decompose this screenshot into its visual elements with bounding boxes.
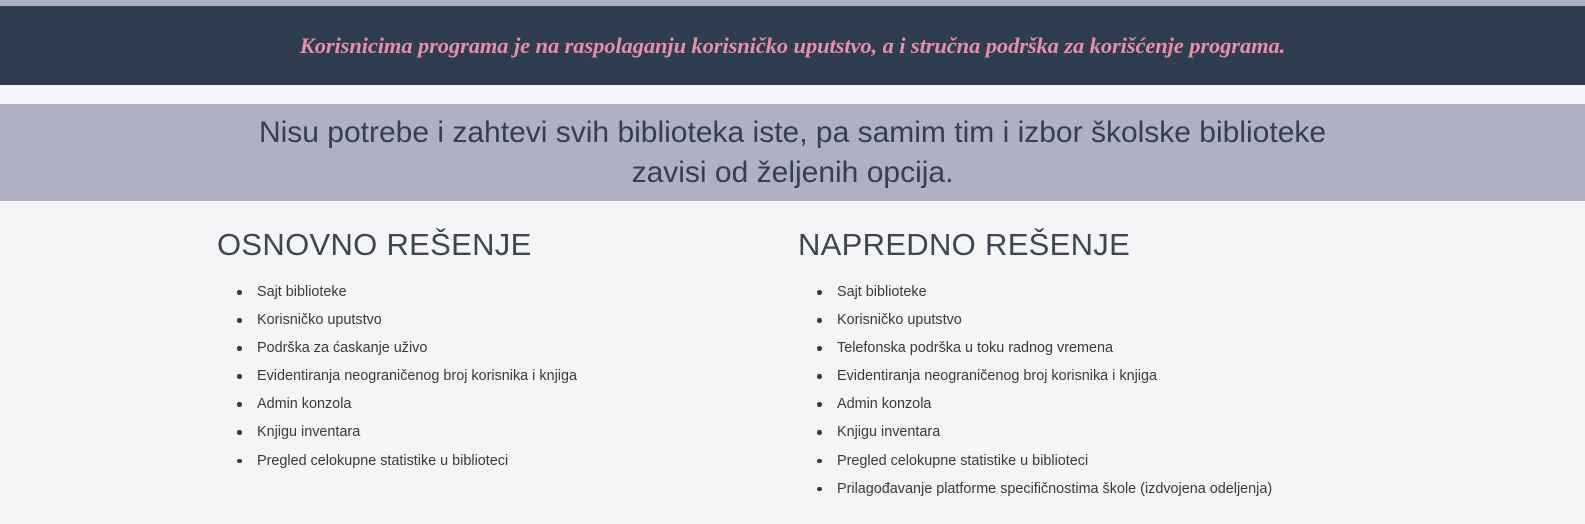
banner-spacer [0, 85, 1585, 104]
list-item: Evidentiranja neograničenog broj korisni… [237, 369, 797, 383]
bullet-icon [817, 430, 822, 435]
column-advanced-solution: NAPREDNO REŠENJE Sajt biblioteke Korisni… [797, 227, 1437, 510]
column-heading-advanced: NAPREDNO REŠENJE [798, 227, 1437, 263]
list-item: Pregled celokupne statistike u bibliotec… [237, 454, 797, 468]
list-item: Knjigu inventara [817, 425, 1437, 439]
list-item: Telefonska podrška u toku radnog vremena [817, 341, 1437, 355]
list-item: Evidentiranja neograničenog broj korisni… [817, 369, 1437, 383]
list-item-label: Knjigu inventara [837, 425, 940, 439]
list-item: Prilagođavanje platforme specifičnostima… [817, 482, 1437, 496]
list-item: Pregled celokupne statistike u bibliotec… [817, 454, 1437, 468]
bullet-icon [817, 459, 822, 464]
list-item: Admin konzola [817, 397, 1437, 411]
list-item: Podrška za ćaskanje uživo [237, 341, 797, 355]
list-item: Admin konzola [237, 397, 797, 411]
bullet-icon [237, 430, 242, 435]
bullet-icon [817, 402, 822, 407]
bullet-icon [237, 318, 242, 323]
list-item: Sajt biblioteke [817, 285, 1437, 299]
statement-banner: Nisu potrebe i zahtevi svih biblioteka i… [0, 104, 1585, 201]
list-item: Korisničko uputstvo [237, 313, 797, 327]
list-item-label: Evidentiranja neograničenog broj korisni… [837, 369, 1157, 383]
list-item-label: Evidentiranja neograničenog broj korisni… [257, 369, 577, 383]
bullet-icon [817, 318, 822, 323]
list-item: Korisničko uputstvo [817, 313, 1437, 327]
list-item-label: Korisničko uputstvo [257, 313, 382, 327]
list-item: Knjigu inventara [237, 425, 797, 439]
list-item-label: Podrška za ćaskanje uživo [257, 341, 427, 355]
column-heading-basic: OSNOVNO REŠENJE [217, 227, 797, 263]
announcement-banner: Korisnicima programa je na raspolaganju … [0, 6, 1585, 85]
list-item-label: Korisničko uputstvo [837, 313, 962, 327]
bullet-icon [817, 374, 822, 379]
bullet-icon [237, 402, 242, 407]
list-item-label: Admin konzola [257, 397, 351, 411]
announcement-text: Korisnicima programa je na raspolaganju … [300, 33, 1285, 59]
bullet-icon [237, 290, 242, 295]
bullet-icon [237, 459, 242, 464]
list-item-label: Telefonska podrška u toku radnog vremena [837, 341, 1113, 355]
bullet-icon [237, 346, 242, 351]
feature-list-basic: Sajt biblioteke Korisničko uputstvo Podr… [217, 285, 797, 468]
list-item-label: Prilagođavanje platforme specifičnostima… [837, 482, 1272, 496]
solutions-columns: OSNOVNO REŠENJE Sajt biblioteke Korisnič… [0, 201, 1585, 510]
list-item-label: Knjigu inventara [257, 425, 360, 439]
list-item-label: Admin konzola [837, 397, 931, 411]
bullet-icon [817, 487, 822, 492]
statement-text: Nisu potrebe i zahtevi svih biblioteka i… [238, 113, 1348, 193]
list-item-label: Pregled celokupne statistike u bibliotec… [257, 454, 508, 468]
bullet-icon [237, 374, 242, 379]
list-item-label: Pregled celokupne statistike u bibliotec… [837, 454, 1088, 468]
list-item-label: Sajt biblioteke [837, 285, 927, 299]
bullet-icon [817, 290, 822, 295]
column-basic-solution: OSNOVNO REŠENJE Sajt biblioteke Korisnič… [217, 227, 797, 510]
list-item: Sajt biblioteke [237, 285, 797, 299]
list-item-label: Sajt biblioteke [257, 285, 347, 299]
feature-list-advanced: Sajt biblioteke Korisničko uputstvo Tele… [797, 285, 1437, 496]
bullet-icon [817, 346, 822, 351]
